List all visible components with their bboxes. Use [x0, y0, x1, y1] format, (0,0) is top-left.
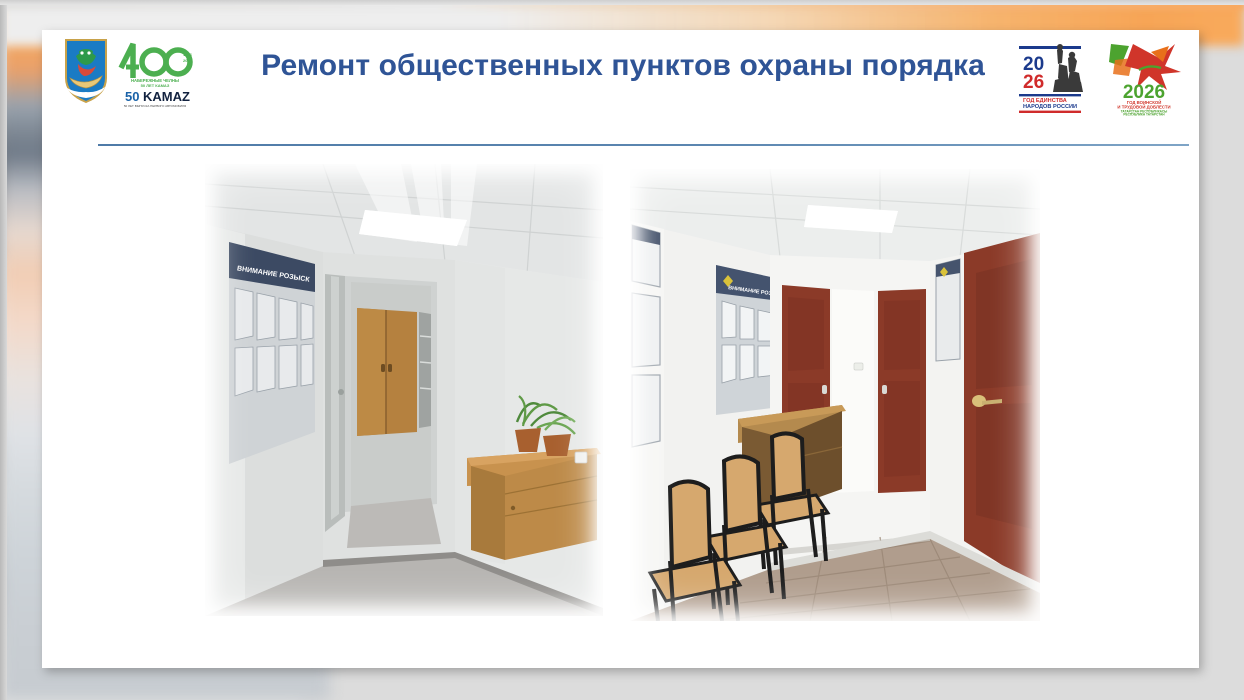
anniversary-400-logo-icon: 1626 2026 НАБЕРЕЖНЫЕ ЧЕЛНЫ 50 ЛЕТ КАМАЗ …	[116, 38, 194, 108]
photo-gallery: ВНИМАНИЕ РОЗЫСК	[42, 164, 1199, 644]
year-of-valor-2026-logo-icon: 2026 ГОД ВОИНСКОЙ И ТРУДОВОЙ ДОБЛЕСТИ ТА…	[1103, 36, 1185, 116]
coat-of-arms-icon	[62, 38, 110, 104]
svg-text:РЕСПУБЛИКА ТАТАРСТАН: РЕСПУБЛИКА ТАТАРСТАН	[1123, 113, 1165, 116]
svg-text:50 ЛЕТ КАМАЗ: 50 ЛЕТ КАМАЗ	[141, 83, 170, 88]
background-left-edge	[0, 0, 7, 700]
svg-text:НАРОДОВ РОССИИ: НАРОДОВ РОССИИ	[1023, 104, 1077, 110]
svg-text:KAMAZ: KAMAZ	[143, 89, 190, 104]
background-top-edge	[0, 0, 1244, 5]
svg-text:50: 50	[125, 89, 139, 104]
slide-title: Ремонт общественных пунктов охраны поряд…	[252, 46, 994, 85]
header-divider	[98, 144, 1189, 146]
slide-header: 1626 2026 НАБЕРЕЖНЫЕ ЧЕЛНЫ 50 ЛЕТ КАМАЗ …	[42, 30, 1199, 146]
photo-before-corridor-with-desk[interactable]: ВНИМАНИЕ РОЗЫСК	[205, 164, 603, 616]
photo-after-corridor-with-chairs[interactable]: ВНИМАНИЕ РОЗЫСК	[630, 169, 1040, 621]
svg-text:50 ЛЕТ ВЫПУСКА ПЕРВОГО АВТОМОБ: 50 ЛЕТ ВЫПУСКА ПЕРВОГО АВТОМОБИЛЯ	[124, 104, 186, 108]
slide-card: 1626 2026 НАБЕРЕЖНЫЕ ЧЕЛНЫ 50 ЛЕТ КАМАЗ …	[42, 30, 1199, 668]
svg-text:2026: 2026	[183, 58, 193, 63]
svg-text:1626: 1626	[183, 52, 193, 57]
header-logo-group-left: 1626 2026 НАБЕРЕЖНЫЕ ЧЕЛНЫ 50 ЛЕТ КАМАЗ …	[62, 38, 194, 108]
photo-left-scene: ВНИМАНИЕ РОЗЫСК	[205, 164, 603, 616]
year-of-unity-2026-logo-icon: 20 26 ГОД ЕДИНСТВА НАРОДОВ РОССИИ	[1013, 36, 1093, 114]
svg-text:26: 26	[1023, 72, 1044, 93]
header-logo-group-right: 20 26 ГОД ЕДИНСТВА НАРОДОВ РОССИИ	[1013, 36, 1185, 116]
photo-right-scene: ВНИМАНИЕ РОЗЫСК	[630, 169, 1040, 621]
